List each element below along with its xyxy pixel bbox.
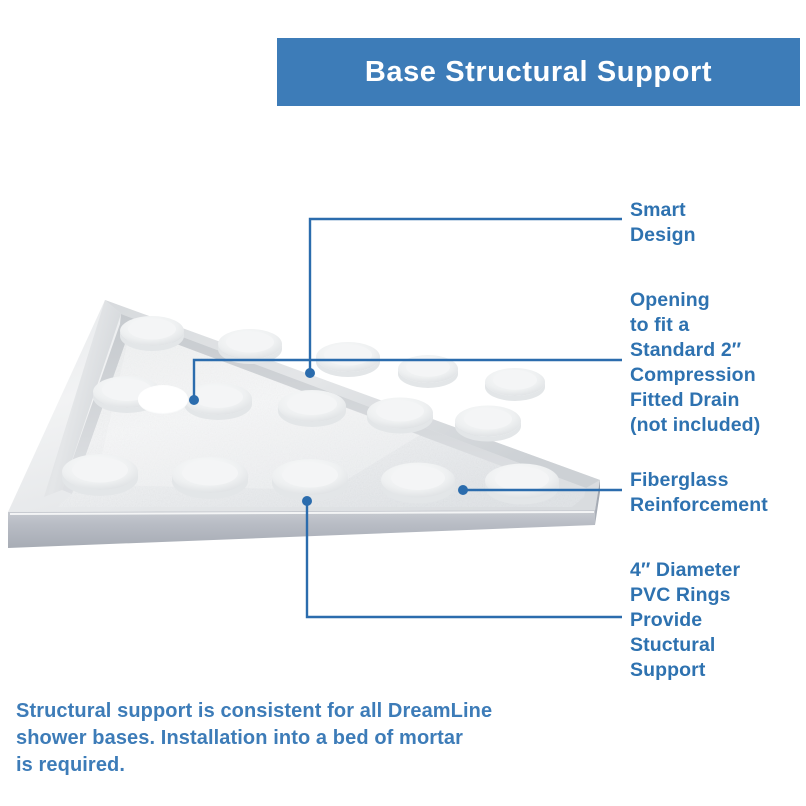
pvc-ring: [316, 342, 380, 377]
pvc-ring: [172, 457, 248, 499]
pvc-ring: [62, 454, 138, 496]
drain-opening: [138, 385, 188, 414]
pvc-ring: [278, 390, 346, 427]
pvc-ring: [485, 464, 559, 505]
pvc-ring: [218, 329, 282, 364]
pvc-ring: [381, 463, 455, 504]
pvc-ring: [485, 368, 545, 401]
pvc-ring: [367, 398, 433, 434]
shower-base-render: [0, 285, 620, 555]
footer-note: Structural support is consistent for all…: [16, 698, 576, 779]
pvc-ring: [455, 406, 521, 442]
pvc-ring: [120, 316, 184, 351]
callout-label-drain-opening: Opening to fit a Standard 2″ Compression…: [630, 288, 806, 438]
callout-label-smart-design: Smart Design: [630, 198, 806, 248]
pvc-ring: [398, 355, 458, 388]
callout-label-pvc-rings: 4″ Diameter PVC Rings Provide Stuctural …: [630, 558, 806, 683]
header-banner: Base Structural Support: [277, 38, 800, 106]
shower-base-illustration: [0, 285, 620, 555]
pvc-ring: [272, 459, 348, 501]
page-title: Base Structural Support: [365, 58, 712, 87]
pvc-ring: [184, 383, 252, 420]
callout-label-fiberglass: Fiberglass Reinforcement: [630, 468, 806, 518]
infographic-page: Base Structural Support Smart Design Ope…: [0, 0, 806, 806]
